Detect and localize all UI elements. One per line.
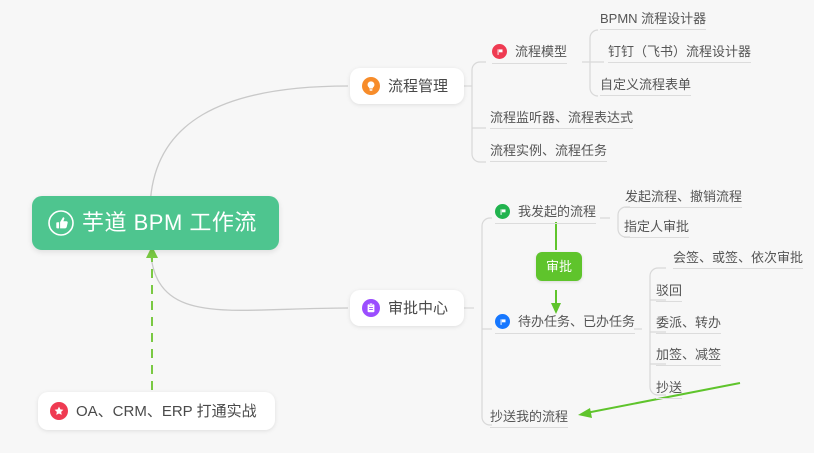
leaf-reject[interactable]: 驳回: [656, 284, 682, 302]
root-label: 芋道 BPM 工作流: [82, 212, 257, 234]
branch-process-management[interactable]: 流程管理: [350, 68, 464, 104]
leaf-process-instance[interactable]: 流程实例、流程任务: [490, 144, 607, 162]
arrow-approve-head: [551, 303, 561, 314]
leaf-process-listener[interactable]: 流程监听器、流程表达式: [490, 111, 633, 129]
leaf-add-remove-sign[interactable]: 加签、减签: [656, 348, 721, 366]
connector-model-bracket-top: [590, 30, 598, 38]
leaf-bpmn-designer-label: BPMN 流程设计器: [600, 12, 706, 25]
leaf-process-model-label: 流程模型: [515, 45, 567, 58]
leaf-cc[interactable]: 抄送: [656, 381, 682, 399]
leaf-dingtalk-designer-label: 钉钉（飞书）流程设计器: [608, 45, 751, 58]
leaf-my-started[interactable]: 我发起的流程: [495, 204, 596, 224]
leaf-process-listener-label: 流程监听器、流程表达式: [490, 111, 633, 124]
leaf-custom-form[interactable]: 自定义流程表单: [600, 78, 691, 96]
connector-mine-bracket-top: [618, 207, 630, 215]
mindmap-canvas: 芋道 BPM 工作流 流程管理 审批中心: [0, 0, 814, 453]
arrow-cc-head: [578, 408, 592, 418]
approval-badge[interactable]: 审批: [536, 252, 582, 281]
connector-pm-bracket-bottom: [472, 154, 486, 162]
star-icon: [50, 402, 68, 420]
leaf-reject-label: 驳回: [656, 284, 682, 297]
leaf-todo-done[interactable]: 待办任务、已办任务: [495, 314, 635, 334]
leaf-delegate-transfer[interactable]: 委派、转办: [656, 316, 721, 334]
integration-note-node[interactable]: OA、CRM、ERP 打通实战: [38, 392, 275, 430]
flag-icon: [495, 204, 510, 219]
leaf-sign-modes[interactable]: 会签、或签、依次审批: [673, 251, 803, 269]
clipboard-icon: [362, 299, 380, 317]
connector-root-to-process-management: [150, 86, 348, 212]
leaf-cc-label: 抄送: [656, 381, 682, 394]
connector-pm-bracket-top: [472, 62, 486, 70]
leaf-assignee-approve-label: 指定人审批: [624, 220, 689, 233]
leaf-start-cancel-label: 发起流程、撤销流程: [625, 190, 742, 203]
leaf-add-remove-sign-label: 加签、减签: [656, 348, 721, 361]
leaf-my-started-label: 我发起的流程: [518, 205, 596, 218]
flag-icon: [492, 44, 507, 59]
connector-todo-bracket-top: [650, 268, 666, 276]
connector-model-bracket-bottom: [590, 88, 598, 96]
root-node[interactable]: 芋道 BPM 工作流: [32, 196, 279, 250]
leaf-cc-to-me-label: 抄送我的流程: [490, 410, 568, 423]
flag-icon: [495, 314, 510, 329]
leaf-cc-to-me[interactable]: 抄送我的流程: [490, 410, 568, 428]
leaf-bpmn-designer[interactable]: BPMN 流程设计器: [600, 12, 706, 30]
connector-root-to-approval-center: [150, 240, 348, 310]
branch-approval-center-label: 审批中心: [388, 301, 448, 316]
leaf-process-instance-label: 流程实例、流程任务: [490, 144, 607, 157]
leaf-dingtalk-designer[interactable]: 钉钉（飞书）流程设计器: [608, 45, 751, 63]
branch-process-management-label: 流程管理: [388, 79, 448, 94]
thumbs-up-icon: [48, 210, 74, 236]
leaf-start-cancel[interactable]: 发起流程、撤销流程: [625, 190, 742, 208]
lightbulb-icon: [362, 77, 380, 95]
leaf-delegate-transfer-label: 委派、转办: [656, 316, 721, 329]
leaf-custom-form-label: 自定义流程表单: [600, 78, 691, 91]
leaf-process-model[interactable]: 流程模型: [492, 44, 567, 64]
integration-note-label: OA、CRM、ERP 打通实战: [76, 404, 257, 419]
connector-ac-bracket-top: [482, 218, 492, 226]
leaf-sign-modes-label: 会签、或签、依次审批: [673, 251, 803, 264]
leaf-assignee-approve[interactable]: 指定人审批: [624, 220, 689, 238]
branch-approval-center[interactable]: 审批中心: [350, 290, 464, 326]
leaf-todo-done-label: 待办任务、已办任务: [518, 315, 635, 328]
